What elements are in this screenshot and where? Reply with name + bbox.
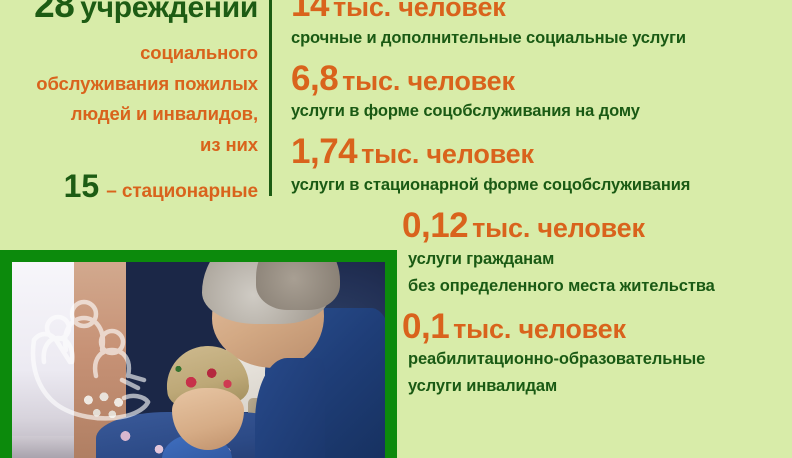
left-final-text: – стационарные bbox=[99, 181, 258, 202]
photo-image bbox=[12, 262, 385, 458]
caregiver-arm bbox=[255, 358, 325, 458]
stat-block-home-services: 6,8тыс. человек услуги в форме соцобслуж… bbox=[291, 61, 792, 125]
photo-container bbox=[12, 262, 385, 458]
caregiver-hair-highlight bbox=[256, 262, 340, 310]
infographic-canvas: 28учреждений социального обслуживания по… bbox=[0, 0, 792, 458]
left-description-line-1: социального bbox=[0, 44, 258, 63]
left-headline-number: 28 bbox=[34, 0, 74, 25]
stat-description-line: срочные и дополнительные социальные услу… bbox=[291, 27, 792, 51]
stat-unit: тыс. человек bbox=[472, 213, 645, 243]
stat-description-line: реабилитационно-образовательные bbox=[402, 348, 792, 372]
stat-unit: тыс. человек bbox=[361, 139, 534, 169]
stat-heading: 0,1тыс. человек bbox=[402, 309, 792, 346]
stat-description-line: услуги инвалидам bbox=[402, 375, 792, 399]
stat-number: 0,12 bbox=[402, 206, 468, 245]
stat-block-urgent-services: 14тыс. человек срочные и дополнительные … bbox=[291, 0, 792, 51]
left-description-line-3: людей и инвалидов, bbox=[0, 105, 258, 124]
stat-description-line: услуги в стационарной форме соцобслужива… bbox=[291, 174, 792, 198]
stat-unit: тыс. человек bbox=[342, 66, 515, 96]
stat-heading: 14тыс. человек bbox=[291, 0, 792, 24]
stat-number: 14 bbox=[291, 0, 329, 24]
stat-unit: тыс. человек bbox=[333, 0, 506, 22]
column-divider bbox=[269, 0, 272, 196]
left-description-line-2: обслуживания пожилых bbox=[0, 75, 258, 94]
stat-description-line: без определенного места жительства bbox=[402, 275, 792, 299]
left-final-row: 15– стационарные bbox=[0, 170, 258, 202]
stat-number: 1,74 bbox=[291, 132, 357, 171]
left-final-number: 15 bbox=[64, 168, 100, 204]
stat-heading: 6,8тыс. человек bbox=[291, 61, 792, 98]
window-region bbox=[12, 262, 74, 458]
photo-frame-band bbox=[0, 250, 397, 458]
left-stat-column: 28учреждений социального обслуживания по… bbox=[0, 0, 268, 201]
windowsill-region bbox=[12, 436, 74, 458]
left-description-line-4: из них bbox=[0, 136, 258, 155]
stat-number: 0,1 bbox=[402, 307, 449, 346]
stat-description-line: услуги гражданам bbox=[402, 248, 792, 272]
stat-description-line: услуги в форме соцобслуживания на дому bbox=[291, 100, 792, 124]
left-headline: 28учреждений bbox=[0, 0, 258, 32]
stat-heading: 0,12тыс. человек bbox=[402, 208, 792, 245]
stat-heading: 1,74тыс. человек bbox=[291, 134, 792, 171]
stat-block-inpatient-services: 1,74тыс. человек услуги в стационарной ф… bbox=[291, 134, 792, 198]
left-headline-word: учреждений bbox=[74, 0, 258, 24]
stat-unit: тыс. человек bbox=[453, 314, 626, 344]
stat-number: 6,8 bbox=[291, 59, 338, 98]
